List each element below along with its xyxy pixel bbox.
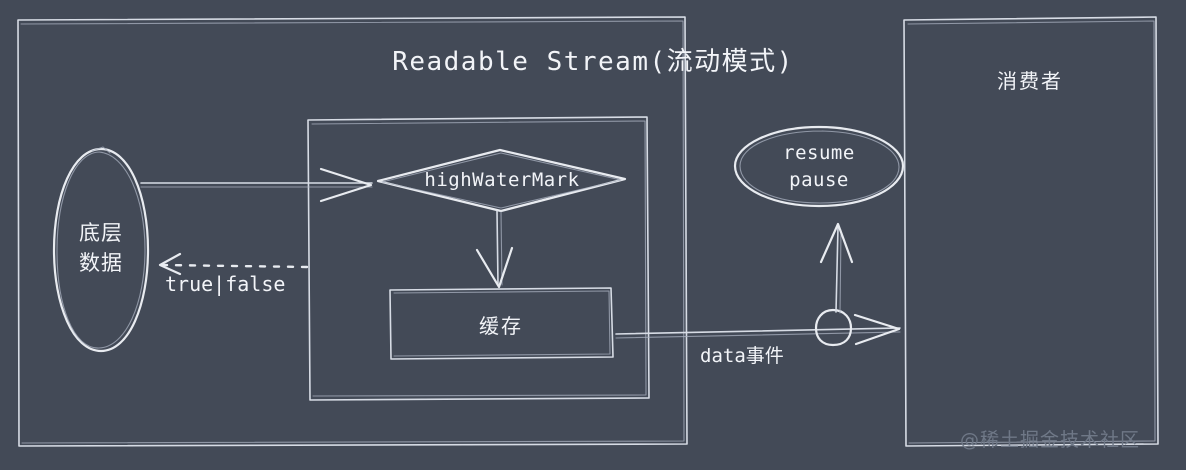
arrow-hwm-to-buffer — [477, 211, 512, 287]
diagram-canvas: Readable Stream(流动模式) 底层 数据 true|false h… — [0, 0, 1186, 470]
arrow-event-to-flowcontrol — [821, 224, 852, 313]
data-event-label: data事件 — [700, 341, 784, 368]
flow-control-label: resume pause — [735, 140, 903, 194]
data-event-line — [616, 315, 900, 344]
boolean-feedback-line — [160, 254, 307, 274]
event-node-circle — [816, 310, 851, 345]
arrow-source-to-stream — [141, 169, 372, 201]
watermark: @稀土掘金技术社区 — [960, 425, 1170, 452]
source-data-label: 底层 数据 — [53, 218, 149, 278]
boolean-feedback-label: true|false — [165, 272, 285, 296]
highwatermark-label: highWaterMark — [378, 169, 626, 191]
buffer-label: 缓存 — [389, 310, 613, 339]
consumer-label: 消费者 — [903, 65, 1157, 94]
